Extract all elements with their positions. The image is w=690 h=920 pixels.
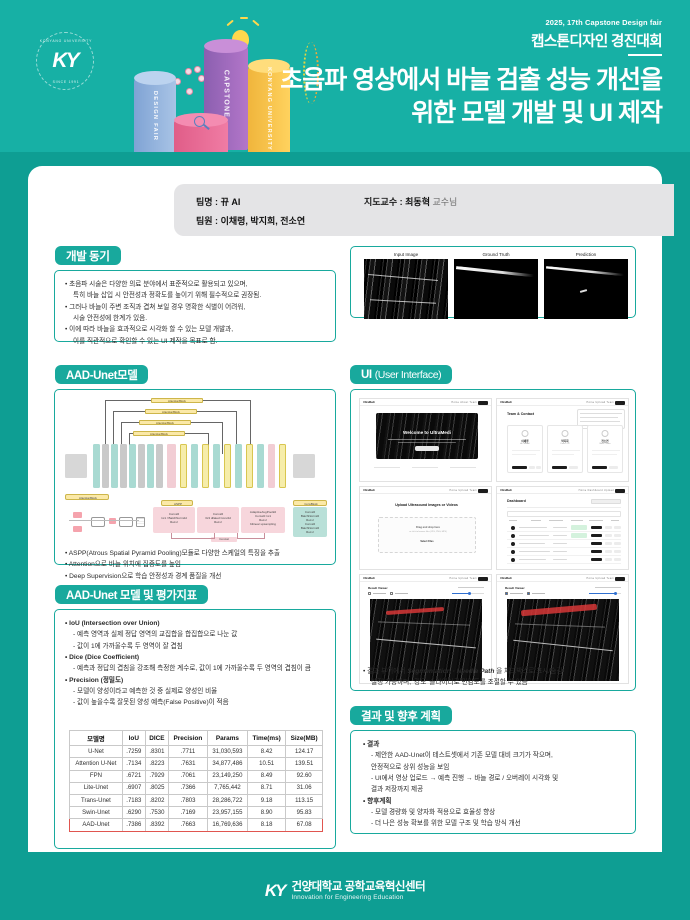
cell-params: 16,769,636 — [207, 819, 247, 831]
architecture-line: • Attention으로 바늘 위치에 집중도를 높임 — [65, 559, 331, 570]
sigmoid-node — [119, 517, 133, 527]
pillar-label: DESIGN FAIR — [152, 91, 158, 141]
team-member-card: 박지희Front / UI — [547, 425, 583, 473]
upsample-block — [202, 444, 209, 488]
cell-model: Attention U-Net — [70, 758, 123, 770]
panel-sample-results: Input Image Ground Truth Prediction — [350, 246, 636, 318]
upsample-block — [180, 444, 187, 488]
section-tag-label: AAD-Unet모델 — [66, 367, 137, 383]
team-info-bar: 팀명 : 뀨 AI 지도교수 : 최동혁 교수님 팀원 : 이채령, 박지희, … — [174, 184, 674, 236]
cell-size: 31.06 — [286, 782, 323, 794]
cell-precision: .7061 — [169, 770, 208, 782]
table-row: Trans-Unet.7183.8202.780328,286,7229.181… — [70, 794, 323, 806]
poster-header: KONYANG UNIVERSITY KY SINCE 1991 CAPSTON… — [0, 0, 690, 160]
cell-dice: .8025 — [145, 782, 168, 794]
cell-iou: .7134 — [122, 758, 145, 770]
encoder-block — [147, 444, 154, 488]
encoder-block — [129, 444, 136, 488]
upsample-block — [224, 444, 231, 488]
cell-dice: .8202 — [145, 794, 168, 806]
team-member-card: 전소연Back / Data — [587, 425, 623, 473]
hero-heading: Welcome to UltraMedi — [376, 430, 478, 435]
panel-conclusion: • 결과 - 제안한 AAD-Unet이 테스트셋에서 기존 모델 대비 크기가… — [350, 730, 636, 834]
table-row[interactable] — [507, 540, 621, 548]
ground-truth-mask — [454, 259, 538, 319]
psi-node — [109, 518, 116, 524]
viewer-heading: Result Viewer — [368, 586, 388, 590]
aspp-col-text: Conv2d 1x1 / BatchNorm2d ReLU — [153, 512, 195, 524]
motivation-line: 특히 바늘 삽입 시 안전성과 정확도를 높이기 위해 필수적으로 권장됨. — [65, 290, 327, 301]
metric-line: - 예측 영역과 실제 정답 영역의 교집합을 합집합으로 나눈 값 — [65, 629, 331, 640]
pool-block — [138, 444, 145, 488]
mock-logout-button[interactable] — [615, 489, 625, 493]
avatar — [522, 430, 529, 437]
section-tag-label: AAD-Unet 모델 및 평가지표 — [66, 587, 197, 603]
sample-image-row: Input Image Ground Truth Prediction — [364, 252, 628, 319]
dashboard-heading: Dashboard — [507, 499, 526, 503]
cell-dice: .7929 — [145, 770, 168, 782]
members-names: 이채령, 박지희, 전소연 — [221, 216, 306, 226]
cell-time: 8.42 — [248, 746, 286, 758]
conclusion-line: - UI에서 영상 업로드 → 예측 진행 → 바늘 경로 / 오버레이 시각화… — [363, 773, 629, 784]
metric-head: • Precision (정밀도) — [65, 675, 331, 686]
cell-params: 7,765,442 — [207, 782, 247, 794]
submodule-row: ASPP Conv2d 1x1 / BatchNorm2d ReLU Conv2… — [61, 500, 331, 546]
conclusion-line: - 제안한 AAD-Unet이 테스트셋에서 기존 모델 대비 크기가 작으며, — [363, 750, 629, 761]
table-row: Swin-Unet.6290.7530.716923,957,1558.9095… — [70, 807, 323, 819]
cell-params: 23,149,250 — [207, 770, 247, 782]
dropzone-button[interactable]: Select Files — [420, 540, 433, 543]
cell-params: 34,877,486 — [207, 758, 247, 770]
cell-time: 9.18 — [248, 794, 286, 806]
cell-iou: .7259 — [122, 746, 145, 758]
convblock-text: Conv2d BatchNorm2d ReLU Conv2d BatchNorm… — [293, 510, 327, 534]
dropzone[interactable]: Drag and drop here or click to browse fi… — [378, 517, 476, 553]
conv-out-block — [279, 444, 286, 488]
fair-subtitle-en: 2025, 17th Capstone Design fair — [546, 18, 662, 27]
team-name: 뀨 AI — [221, 197, 241, 207]
ray-icon — [226, 20, 233, 26]
sample-caption: Ground Truth — [454, 252, 538, 257]
cell-time: 8.49 — [248, 770, 286, 782]
pool-block — [120, 444, 127, 488]
mock-nav[interactable]: Home About Team — [451, 401, 477, 404]
advisor-name: 최동혁 — [405, 197, 430, 207]
viewer-heading: Result Viewer — [505, 586, 525, 590]
ui-caption-suffix: 을 체크박스로 표시/숨김 — [494, 668, 562, 675]
sample-prediction: Prediction — [544, 252, 628, 319]
dropzone-subtitle: or click to browse files (JPG, PNG, MP4) — [379, 531, 477, 533]
cell-size: 113.15 — [286, 794, 323, 806]
cell-iou: .6290 — [122, 807, 145, 819]
poster-title-line2: 위한 모델 개발 및 UI 제작 — [411, 99, 662, 127]
convblock-body: Conv2d BatchNorm2d ReLU Conv2d BatchNorm… — [293, 507, 327, 537]
decoder-block — [213, 444, 220, 488]
poster-title: 초음파 영상에서 바늘 검출 성능 개선을 위한 모델 개발 및 UI 제작 — [222, 64, 662, 130]
motivation-line: • 이에 따라 바늘을 효과적으로 시각화 할 수 있는 모델 개발과, — [65, 324, 327, 335]
cell-iou: .7183 — [122, 794, 145, 806]
ui-mock-team[interactable]: UltraMedi Home Upload Team Team & Contac… — [496, 398, 629, 482]
cell-size: 92.60 — [286, 770, 323, 782]
cell-size: 67.08 — [286, 819, 323, 831]
cell-dice: .8392 — [145, 819, 168, 831]
mock-logo[interactable]: UltraMedi — [500, 577, 512, 580]
panel-ui-screens: UltraMedi Home About Team Welcome to Ult… — [350, 389, 636, 691]
team-label: 팀명 : — [196, 197, 218, 207]
architecture-line: • Deep Supervision으로 학습 안정성과 경계 품질을 개선 — [65, 571, 331, 582]
th-time: Time(ms) — [248, 731, 286, 746]
cell-precision: .7663 — [169, 819, 208, 831]
footer-text-group: 건양대학교 공학교육혁신센터 Innovation for Engineerin… — [291, 881, 425, 901]
motivation-bullets: • 초음파 시술은 다양한 의료 분야에서 표준적으로 활용되고 있으며, 특히… — [65, 279, 327, 347]
node-g — [73, 512, 82, 518]
sample-input: Input Image — [364, 252, 448, 319]
cell-iou: .7386 — [122, 819, 145, 831]
cell-time: 8.71 — [248, 782, 286, 794]
mock-nav[interactable]: Home Upload Team — [450, 577, 477, 580]
sample-groundtruth: Ground Truth — [454, 252, 538, 319]
table-head-row — [507, 519, 621, 523]
motivation-line: • 초음파 시술은 다양한 의료 분야에서 표준적으로 활용되고 있으며, — [65, 279, 327, 290]
encoder-block — [93, 444, 100, 488]
section-tag-ui: UI (User Interface) — [350, 365, 452, 384]
results-table: 모델명 IoU DICE Precision Params Time(ms) S… — [69, 730, 323, 832]
conclusion-line: - 더 나은 성능 확보를 위한 모델 구조 및 학습 방식 개선 — [363, 818, 629, 829]
dashboard-table[interactable] — [507, 524, 621, 566]
table-row: Lite-Unet.6907.8025.73667,765,4428.7131.… — [70, 782, 323, 794]
viewer-toggles[interactable] — [368, 593, 428, 595]
mock-navbar[interactable]: UltraMedi Home Upload Team — [360, 575, 491, 582]
table-row[interactable] — [507, 532, 621, 540]
cell-size: 139.51 — [286, 758, 323, 770]
mock-logo[interactable]: UltraMedi — [500, 489, 512, 492]
cell-precision: .7631 — [169, 758, 208, 770]
table-row: Attention U-Net.7134.8223.763134,877,486… — [70, 758, 323, 770]
intensity-slider[interactable] — [452, 592, 484, 595]
ultrasound-input-image — [364, 259, 448, 319]
sample-caption: Input Image — [364, 252, 448, 257]
conclusion-line: - 모델 경량화 및 양자화 적용으로 효율성 향상 — [363, 807, 629, 818]
mock-logo[interactable]: UltraMedi — [500, 401, 512, 404]
cell-params: 28,286,722 — [207, 794, 247, 806]
upload-heading: Upload Ultrasound Images or Videos — [360, 503, 492, 507]
convblock-sub-title: ConvBlock — [293, 500, 327, 506]
cell-iou: .6907 — [122, 782, 145, 794]
conclusion-bullets: • 결과 - 제안한 AAD-Unet이 테스트셋에서 기존 모델 대비 크기가… — [363, 739, 629, 830]
decoder-block — [235, 444, 242, 488]
cell-params: 31,030,593 — [207, 746, 247, 758]
th-precision: Precision — [169, 731, 208, 746]
table-row: FPN.6721.7929.706123,149,2508.4992.60 — [70, 770, 323, 782]
dropzone-title: Drag and drop here — [379, 526, 477, 529]
search-input[interactable] — [507, 511, 621, 517]
intensity-slider[interactable] — [589, 592, 621, 595]
motivation-line: 시술 안전성에 한계가 있음. — [65, 313, 327, 324]
table-row[interactable] — [507, 548, 621, 556]
ui-caption: • 결과 뷰어에서 Segmentation · Needle Path 을 체… — [363, 666, 627, 689]
mock-navbar[interactable]: UltraMedi Home Upload Team — [360, 487, 491, 494]
decoder-block — [257, 444, 264, 488]
th-iou: IoU — [122, 731, 145, 746]
table-row[interactable] — [507, 556, 621, 564]
mock-navbar[interactable]: UltraMedi Home About Team — [360, 399, 491, 406]
members-label: 팀원 : — [196, 216, 218, 226]
aspp-col-2: Conv2d 3x3 dilated Conv2d ReLU — [197, 507, 239, 533]
cell-iou: .6721 — [122, 770, 145, 782]
conclusion-head: • 향후계획 — [363, 796, 629, 807]
table-body: U-Net.7259.8301.771131,030,5938.42124.17… — [70, 746, 323, 831]
attention-mechanism-diagram — [67, 508, 147, 540]
cell-dice: .7530 — [145, 807, 168, 819]
mock-logout-button[interactable] — [478, 489, 488, 493]
mock-nav[interactable]: Home Upload Team — [587, 401, 614, 404]
advisor-suffix: 교수님 — [433, 197, 458, 207]
sub-label: AttentionBlock — [66, 496, 110, 500]
mock-logo[interactable]: UltraMedi — [363, 577, 375, 580]
avatar — [602, 430, 609, 437]
pool-block — [156, 444, 163, 488]
ui-caption-prefix: • 결과 뷰어에서 — [363, 668, 407, 675]
attention-block-label: AttentionBlock — [151, 398, 203, 403]
mock-navbar[interactable]: UltraMedi Home Upload Team — [497, 575, 628, 582]
section-tag-conclusion: 결과 및 향후 계획 — [350, 706, 452, 725]
section-tag-architecture: AAD-Unet모델 — [55, 365, 148, 384]
section-tag-motivation: 개발 동기 — [55, 246, 121, 265]
footer-tagline: Innovation for Engineering Education — [291, 894, 425, 901]
fair-title-kr: 캡스톤디자인 경진대회 — [531, 30, 662, 51]
th-model: 모델명 — [70, 731, 123, 746]
segmentation-checkbox[interactable] — [368, 592, 371, 595]
deep-supervision-block — [268, 444, 275, 488]
metric-head: • IoU (Intersection over Union) — [65, 618, 331, 629]
section-tag-label: 개발 동기 — [66, 248, 110, 264]
panel-architecture: AttentionBlock AttentionBlock AttentionB… — [54, 389, 336, 565]
mock-navbar[interactable]: UltraMedi Home Upload Team — [497, 399, 628, 406]
table-row[interactable] — [507, 524, 621, 532]
section-tag-label: UI — [361, 369, 372, 381]
node-x — [73, 526, 82, 532]
aad-unet-architecture-diagram: AttentionBlock AttentionBlock AttentionB… — [61, 396, 331, 508]
aspp-col-3: AdaptiveAvgPool2d Conv2d 1x1 ReLU biline… — [241, 507, 285, 533]
metric-line: - 예측과 정답의 겹침을 강조해 측정한 계수로, 값이 1에 가까울수록 두… — [65, 663, 331, 674]
hero-cta-button[interactable] — [415, 446, 439, 451]
metric-line: - 값이 높을수록 잘못된 양성 예측(False Positive)이 적음 — [65, 697, 331, 708]
cell-dice: .8223 — [145, 758, 168, 770]
upsample-block — [246, 444, 253, 488]
relu-node — [91, 517, 105, 527]
metric-head: • Dice (Dice Coefficient) — [65, 652, 331, 663]
mock-logo[interactable]: UltraMedi — [363, 489, 375, 492]
motivation-line: 이를 직관적으로 확인할 수 있는 UI 제작을 목표로 함. — [65, 336, 327, 347]
output-block — [293, 454, 315, 478]
hero-banner: Welcome to UltraMedi — [376, 413, 478, 459]
cell-time: 10.51 — [248, 758, 286, 770]
aspp-col-1: Conv2d 1x1 / BatchNorm2d ReLU — [153, 507, 195, 533]
pool-block — [102, 444, 109, 488]
avatar — [562, 430, 569, 437]
advisor-label: 지도교수 : — [364, 197, 403, 207]
footer-ky-logo: KY — [265, 881, 285, 901]
ui-mock-landing[interactable]: UltraMedi Home About Team Welcome to Ult… — [359, 398, 492, 482]
mock-logout-button[interactable] — [615, 577, 625, 581]
ray-icon — [240, 17, 248, 19]
cell-model: U-Net — [70, 746, 123, 758]
poster-title-line1: 초음파 영상에서 바늘 검출 성능 개선을 — [280, 66, 662, 94]
cell-size: 124.17 — [286, 746, 323, 758]
header-divider — [628, 54, 662, 56]
viewer-toggles[interactable] — [505, 593, 565, 595]
cell-model: Swin-Unet — [70, 807, 123, 819]
mock-logo[interactable]: UltraMedi — [363, 401, 375, 404]
footer-center-name: 건양대학교 공학교육혁신센터 — [291, 881, 425, 894]
ui-caption-line: • 결과 뷰어에서 Segmentation · Needle Path 을 체… — [363, 666, 627, 677]
metric-definitions: • IoU (Intersection over Union) - 예측 영역과… — [65, 618, 331, 709]
cell-dice: .8301 — [145, 746, 168, 758]
decoder-block — [191, 444, 198, 488]
aspp-col-text: Conv2d 3x3 dilated Conv2d ReLU — [197, 512, 239, 524]
th-dice: DICE — [145, 731, 168, 746]
conclusion-line: 결과 저장까지 제공 — [363, 784, 629, 795]
mock-logout-button[interactable] — [615, 401, 625, 405]
sub-label: ConvBlock — [294, 502, 328, 506]
th-size: Size(MB) — [286, 731, 323, 746]
segmentation-checkbox[interactable] — [505, 592, 508, 595]
aspp-sub-title: ASPP — [161, 500, 193, 506]
panel-metrics: • IoU (Intersection over Union) - 예측 영역과… — [54, 609, 336, 849]
mock-nav[interactable]: Home Upload Team — [587, 577, 614, 580]
poster-footer: KY 건양대학교 공학교육혁신센터 Innovation for Enginee… — [0, 862, 690, 920]
ui-mock-dashboard[interactable]: UltraMedi Home Dashboard Upload Dashboar… — [496, 486, 629, 570]
mock-nav[interactable]: Home Dashboard Upload — [579, 489, 614, 492]
ui-mock-upload[interactable]: UltraMedi Home Upload Team Upload Ultras… — [359, 486, 492, 570]
cell-precision: .7711 — [169, 746, 208, 758]
aspp-block — [167, 444, 176, 488]
mock-nav[interactable]: Home Upload Team — [450, 489, 477, 492]
cell-model: Lite-Unet — [70, 782, 123, 794]
section-tag-metrics: AAD-Unet 모델 및 평가지표 — [55, 585, 208, 604]
cell-precision: .7803 — [169, 794, 208, 806]
aspp-col-text: AdaptiveAvgPool2d Conv2d 1x1 ReLU biline… — [241, 510, 285, 526]
architecture-bullets: • ASPP(Atrous Spatial Pyramid Pooling)모듈… — [65, 548, 331, 582]
table-header-row: 모델명 IoU DICE Precision Params Time(ms) S… — [70, 731, 323, 746]
encoder-block — [111, 444, 118, 488]
sample-caption: Prediction — [544, 252, 628, 257]
team-heading: Team & Contact — [507, 412, 534, 416]
cell-params: 23,957,155 — [207, 807, 247, 819]
needle-path-checkbox[interactable] — [527, 592, 530, 595]
mock-logout-button[interactable] — [478, 577, 488, 581]
cell-model: Trans-Unet — [70, 794, 123, 806]
table-row: U-Net.7259.8301.771131,030,5938.42124.17 — [70, 746, 323, 758]
needle-path-checkbox[interactable] — [390, 592, 393, 595]
ui-caption-italic: Segmentation · Needle Path — [407, 668, 494, 675]
table-row: AAD-Unet.7386.8392.766316,769,6368.1867.… — [70, 819, 323, 831]
ui-caption-line: 설정 가능하며, '강도' 슬라이더로 민감도를 조절할 수 있음 — [363, 677, 627, 688]
pillar-design-fair: DESIGN FAIR — [134, 78, 176, 160]
motivation-line: • 그러나 바늘이 주변 조직과 겹쳐 보일 경우 명확한 식별이 어려워, — [65, 302, 327, 313]
cell-model: FPN — [70, 770, 123, 782]
section-tag-sublabel: (User Interface) — [375, 369, 442, 381]
metric-line: - 모델이 양성이라고 예측한 것 중 실제로 양성인 비율 — [65, 686, 331, 697]
team-member-card: 이채령AI / Model — [507, 425, 543, 473]
mock-navbar[interactable]: UltraMedi Home Dashboard Upload — [497, 487, 628, 494]
content-sheet: 팀명 : 뀨 AI 지도교수 : 최동혁 교수님 팀원 : 이채령, 박지희, … — [28, 166, 662, 852]
cell-precision: .7169 — [169, 807, 208, 819]
cell-size: 95.83 — [286, 807, 323, 819]
input-block — [65, 454, 87, 478]
mock-login-button[interactable] — [478, 401, 488, 405]
cell-model: AAD-Unet — [70, 819, 123, 831]
prediction-mask — [544, 259, 628, 319]
section-tag-label: 결과 및 향후 계획 — [361, 708, 441, 724]
sub-label: ASPP — [162, 502, 194, 506]
ky-logo-mark: KY — [52, 49, 77, 73]
cell-time: 8.90 — [248, 807, 286, 819]
attention-block-label: AttentionBlock — [145, 409, 197, 414]
poster-body: 팀명 : 뀨 AI 지도교수 : 최동혁 교수님 팀원 : 이채령, 박지희, … — [0, 152, 690, 862]
ray-icon — [252, 20, 259, 26]
cell-precision: .7366 — [169, 782, 208, 794]
conclusion-head: • 결과 — [363, 739, 629, 750]
architecture-line: • ASPP(Atrous Spatial Pyramid Pooling)모듈… — [65, 548, 331, 559]
panel-motivation: • 초음파 시술은 다양한 의료 분야에서 표준적으로 활용되고 있으며, 특히… — [54, 270, 336, 342]
cell-time: 8.18 — [248, 819, 286, 831]
upload-new-scan-button[interactable] — [591, 499, 621, 504]
resampler-node — [136, 517, 145, 527]
th-params: Params — [207, 731, 247, 746]
metric-line: - 값이 1에 가까울수록 두 영역이 잘 겹침 — [65, 641, 331, 652]
conclusion-line: 안정적으로 상위 성능을 보임 — [363, 762, 629, 773]
